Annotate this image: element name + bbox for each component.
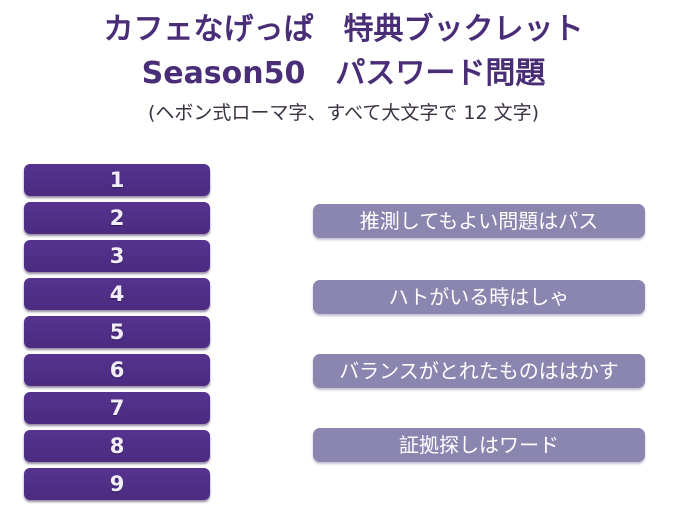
answer-bar-4[interactable]: 4 [24,278,210,310]
answer-bar-6[interactable]: 6 [24,354,210,386]
answer-bar-1[interactable]: 1 [24,164,210,196]
hint-box-2[interactable]: ハトがいる時はしゃ [313,280,645,314]
page-title-line-1: カフェなげっぱ 特典ブックレット [0,8,687,52]
answer-bar-5[interactable]: 5 [24,316,210,348]
page-subtitle: (ヘボン式ローマ字、すべて大文字で 12 文字) [0,98,687,128]
slide-header: カフェなげっぱ 特典ブックレット Season50 パスワード問題 (ヘボン式ロ… [0,8,687,128]
answer-bar-label: 5 [110,322,125,343]
answer-bar-8[interactable]: 8 [24,430,210,462]
hint-box-4[interactable]: 証拠探しはワード [313,428,645,462]
answer-bar-list: 1 2 3 4 5 6 7 8 9 [24,164,210,506]
answer-bar-label: 8 [110,436,125,457]
hint-box-text: バランスがとれたものははかす [339,361,619,381]
answer-bar-9[interactable]: 9 [24,468,210,500]
answer-bar-label: 2 [110,208,125,229]
answer-bar-label: 9 [110,474,125,495]
hint-box-1[interactable]: 推測してもよい問題はパス [313,204,645,238]
hint-box-text: 証拠探しはワード [399,435,559,455]
hint-box-text: ハトがいる時はしゃ [389,287,570,307]
slide-canvas: カフェなげっぱ 特典ブックレット Season50 パスワード問題 (ヘボン式ロ… [0,0,687,514]
answer-bar-3[interactable]: 3 [24,240,210,272]
answer-bar-label: 4 [110,284,125,305]
answer-bar-2[interactable]: 2 [24,202,210,234]
answer-bar-label: 1 [110,170,125,191]
answer-bar-label: 6 [110,360,125,381]
page-title-line-2: Season50 パスワード問題 [0,52,687,96]
answer-bar-label: 7 [110,398,125,419]
answer-bar-7[interactable]: 7 [24,392,210,424]
answer-bar-label: 3 [110,246,125,267]
hint-box-3[interactable]: バランスがとれたものははかす [313,354,645,388]
hint-box-text: 推測してもよい問題はパス [360,211,598,231]
